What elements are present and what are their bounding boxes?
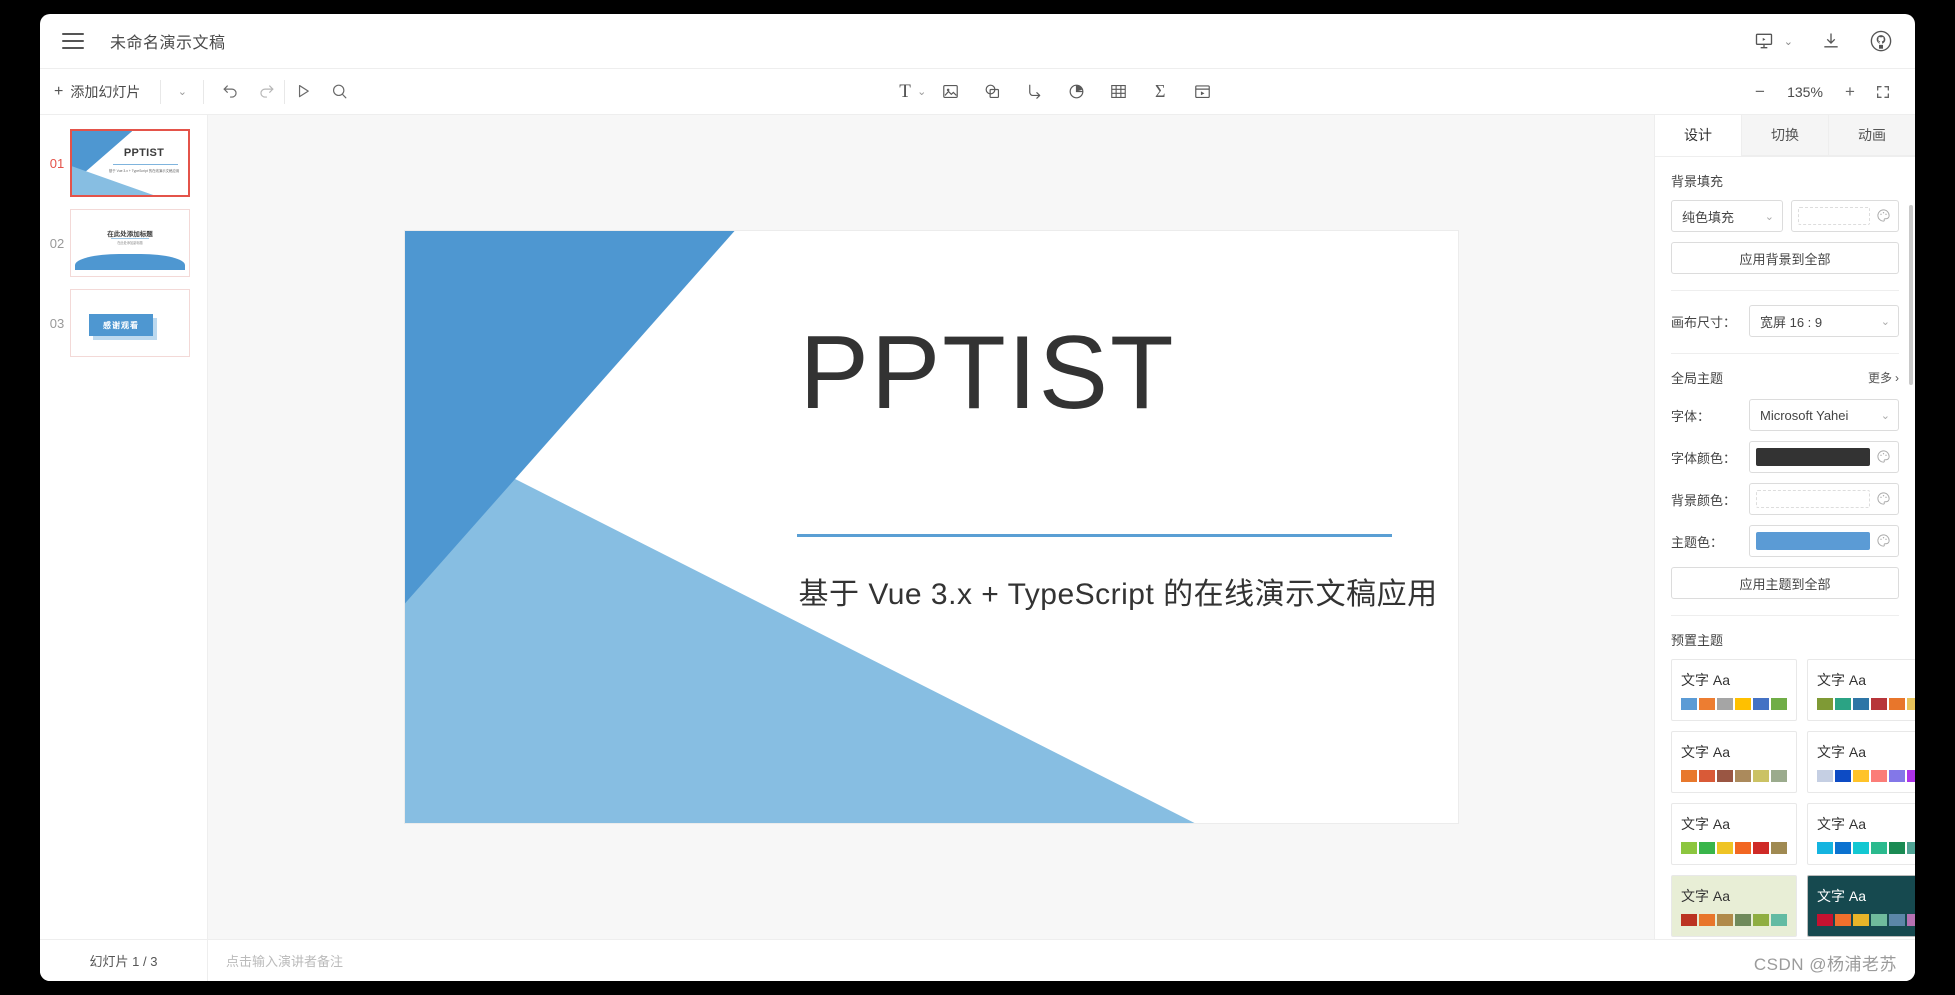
slide-thumbnail-2[interactable]: 02 在此处添加标题 在此处添加副标题 <box>40 203 207 283</box>
present-screen-icon[interactable] <box>1752 29 1776 53</box>
preset-theme-color-swatch-1 <box>1681 698 1697 710</box>
sigma-glyph: Σ <box>1155 81 1165 102</box>
chevron-down-icon: ⌄ <box>1881 409 1890 422</box>
preset-theme-color-row <box>1681 698 1787 710</box>
preset-themes-grid: 文字 Aa文字 Aa文字 Aa文字 Aa文字 Aa文字 Aa文字 Aa文字 Aa… <box>1671 659 1899 939</box>
preset-theme-color-swatch-4 <box>1735 914 1751 926</box>
design-panel-content: 背景填充 纯色填充 ⌄ <box>1655 157 1915 939</box>
plus-icon: + <box>54 83 63 101</box>
preset-theme-color-row <box>1681 914 1787 926</box>
github-icon[interactable] <box>1869 29 1893 53</box>
preset-theme-color-swatch-1 <box>1817 770 1833 782</box>
add-slide-label: 添加幻灯片 <box>70 82 140 102</box>
status-bar: 幻灯片 1 / 3 点击输入演讲者备注 <box>40 939 1915 981</box>
preset-theme-sample-text: 文字 Aa <box>1817 886 1915 906</box>
active-slide[interactable]: PPTIST 基于 Vue 3.x + TypeScript 的在线演示文稿应用 <box>405 231 1458 823</box>
global-theme-more-link[interactable]: 更多 › <box>1868 369 1899 386</box>
insert-line-icon[interactable] <box>1016 75 1052 109</box>
panel-divider-1 <box>1671 290 1899 291</box>
preset-theme-sample-text: 文字 Aa <box>1817 814 1915 834</box>
theme-font-value: Microsoft Yahei <box>1760 408 1848 423</box>
tab-animation[interactable]: 动画 <box>1828 115 1915 156</box>
preset-theme-color-swatch-1 <box>1817 842 1833 854</box>
fit-screen-icon[interactable] <box>1873 82 1893 102</box>
preset-themes-label: 预置主题 <box>1671 630 1899 649</box>
preset-theme-2[interactable]: 文字 Aa <box>1807 659 1915 721</box>
preset-theme-color-swatch-2 <box>1699 842 1715 854</box>
preset-theme-color-row <box>1817 770 1915 782</box>
preset-theme-8[interactable]: 文字 Aa <box>1807 875 1915 937</box>
slide-divider-line[interactable] <box>797 534 1392 537</box>
insert-text-group[interactable]: T ⌄ <box>887 75 926 109</box>
theme-font-row: 字体： Microsoft Yahei ⌄ <box>1671 399 1899 431</box>
theme-font-color-control <box>1749 441 1899 473</box>
title-bar: 未命名演示文稿 ⌄ <box>40 14 1915 69</box>
thumb2-title: 在此处添加标题 <box>71 228 189 238</box>
preset-theme-sample-text: 文字 Aa <box>1681 742 1787 762</box>
slide-thumbnail-panel: 01 PPTIST 基于 Vue 3.x + TypeScript 的在线演示文… <box>40 115 208 939</box>
slide-light-triangle[interactable] <box>405 423 1195 823</box>
preset-theme-color-swatch-3 <box>1853 914 1869 926</box>
preset-theme-color-swatch-6 <box>1907 770 1915 782</box>
chevron-down-icon: ⌄ <box>1881 315 1890 328</box>
insert-tools-group: T ⌄ <box>357 75 1750 109</box>
theme-font-label: 字体： <box>1671 406 1749 425</box>
preset-theme-color-swatch-2 <box>1699 770 1715 782</box>
preset-theme-color-row <box>1681 770 1787 782</box>
play-present-icon[interactable] <box>285 74 321 110</box>
insert-media-icon[interactable] <box>1184 75 1220 109</box>
undo-icon[interactable] <box>212 74 248 110</box>
more-label: 更多 <box>1868 369 1892 386</box>
theme-bg-color-row: 背景颜色： <box>1671 483 1899 515</box>
slide-page-indicator: 幻灯片 1 / 3 <box>40 940 208 982</box>
preset-theme-color-swatch-5 <box>1889 770 1905 782</box>
preset-theme-color-swatch-3 <box>1717 698 1733 710</box>
theme-font-color-swatch <box>1756 448 1870 466</box>
redo-icon[interactable] <box>248 74 284 110</box>
color-palette-icon[interactable] <box>1876 208 1892 224</box>
speaker-notes-input[interactable]: 点击输入演讲者备注 <box>208 951 1915 970</box>
insert-text-caret[interactable]: ⌄ <box>917 85 926 98</box>
preset-theme-color-swatch-6 <box>1907 842 1915 854</box>
preset-theme-color-swatch-3 <box>1853 842 1869 854</box>
apply-background-all-button[interactable]: 应用背景到全部 <box>1671 242 1899 274</box>
slide-subtitle-text[interactable]: 基于 Vue 3.x + TypeScript 的在线演示文稿应用 <box>799 569 1438 613</box>
thumb1-subtitle: 基于 Vue 3.x + TypeScript 的在线演示文稿应用 <box>108 168 180 173</box>
insert-image-icon[interactable] <box>932 75 968 109</box>
preset-theme-color-swatch-5 <box>1753 842 1769 854</box>
preset-theme-color-swatch-4 <box>1871 914 1887 926</box>
preset-theme-color-swatch-3 <box>1717 914 1733 926</box>
preset-theme-color-swatch-2 <box>1699 698 1715 710</box>
present-dropdown-caret[interactable]: ⌄ <box>1784 35 1793 48</box>
slide-thumbnail-list: 01 PPTIST 基于 Vue 3.x + TypeScript 的在线演示文… <box>40 115 207 939</box>
theme-bg-color-picker[interactable] <box>1749 483 1899 515</box>
tab-design[interactable]: 设计 <box>1655 115 1741 156</box>
insert-shape-icon[interactable] <box>974 75 1010 109</box>
thumb2-subtitle: 在此处添加副标题 <box>71 240 189 245</box>
theme-color-label: 主题色： <box>1671 532 1749 551</box>
background-fill-type-value: 纯色填充 <box>1682 207 1734 226</box>
zoom-controls: − 135% + <box>1750 82 1915 102</box>
preset-theme-color-swatch-6 <box>1771 914 1787 926</box>
preset-theme-sample-text: 文字 Aa <box>1681 670 1787 690</box>
main-toolbar: + 添加幻灯片 ⌄ <box>40 69 1915 115</box>
insert-table-icon[interactable] <box>1100 75 1136 109</box>
preset-theme-color-swatch-2 <box>1835 770 1851 782</box>
tab-transition[interactable]: 切换 <box>1741 115 1828 156</box>
preset-theme-color-swatch-2 <box>1835 698 1851 710</box>
slide-thumbnail-3[interactable]: 03 感谢观看 <box>40 283 207 363</box>
preset-theme-color-swatch-6 <box>1771 698 1787 710</box>
preset-theme-color-swatch-5 <box>1753 698 1769 710</box>
preset-theme-color-row <box>1817 698 1915 710</box>
preset-theme-7[interactable]: 文字 Aa <box>1671 875 1797 937</box>
preset-theme-color-swatch-3 <box>1717 842 1733 854</box>
background-section-label: 背景填充 <box>1671 171 1899 190</box>
zoom-in-button[interactable]: + <box>1840 82 1860 102</box>
thumb2-rule <box>111 238 149 239</box>
pptist-app-window: 未命名演示文稿 ⌄ <box>40 14 1915 981</box>
preset-theme-color-swatch-3 <box>1717 770 1733 782</box>
search-replace-icon[interactable] <box>321 74 357 110</box>
slide-number-2: 02 <box>44 236 70 251</box>
right-panel-tabs: 设计 切换 动画 <box>1655 115 1915 157</box>
theme-font-control: Microsoft Yahei ⌄ <box>1749 399 1899 431</box>
preset-theme-color-swatch-1 <box>1681 842 1697 854</box>
right-sidebar: 设计 切换 动画 背景填充 纯色填充 ⌄ <box>1655 115 1915 939</box>
add-slide-dropdown-caret[interactable]: ⌄ <box>161 69 203 115</box>
preset-theme-color-swatch-4 <box>1871 698 1887 710</box>
theme-bg-color-swatch <box>1756 490 1870 508</box>
preset-theme-color-swatch-4 <box>1735 770 1751 782</box>
preset-theme-sample-text: 文字 Aa <box>1817 670 1915 690</box>
zoom-level-value: 135% <box>1783 84 1827 100</box>
theme-color-swatch <box>1756 532 1870 550</box>
chevron-right-icon: › <box>1895 371 1899 385</box>
slide-title-text[interactable]: PPTIST <box>800 313 1176 434</box>
theme-color-row: 主题色： <box>1671 525 1899 557</box>
theme-bg-color-label: 背景颜色： <box>1671 490 1749 509</box>
download-icon[interactable] <box>1819 29 1843 53</box>
apply-theme-all-button[interactable]: 应用主题到全部 <box>1671 567 1899 599</box>
preset-theme-color-swatch-2 <box>1835 842 1851 854</box>
preset-theme-5[interactable]: 文字 Aa <box>1671 803 1797 865</box>
theme-color-control <box>1749 525 1899 557</box>
canvas-size-select[interactable]: 宽屏 16 : 9 ⌄ <box>1749 305 1899 337</box>
document-title[interactable]: 未命名演示文稿 <box>110 29 226 53</box>
color-palette-icon[interactable] <box>1876 491 1892 507</box>
insert-formula-icon[interactable]: Σ <box>1142 75 1178 109</box>
preset-theme-color-row <box>1817 842 1915 854</box>
canvas-size-row: 画布尺寸： 宽屏 16 : 9 ⌄ <box>1671 305 1899 337</box>
preset-theme-sample-text: 文字 Aa <box>1817 742 1915 762</box>
panel-divider-3 <box>1671 615 1899 616</box>
title-bar-actions: ⌄ <box>1752 29 1893 53</box>
preset-theme-color-swatch-4 <box>1735 842 1751 854</box>
preset-theme-color-swatch-2 <box>1699 914 1715 926</box>
preset-theme-color-swatch-6 <box>1907 698 1915 710</box>
canvas-size-control: 宽屏 16 : 9 ⌄ <box>1749 305 1899 337</box>
color-palette-icon[interactable] <box>1876 533 1892 549</box>
slide-preview-3[interactable]: 感谢观看 <box>70 289 190 357</box>
preset-theme-sample-text: 文字 Aa <box>1681 814 1787 834</box>
preset-theme-color-swatch-4 <box>1871 842 1887 854</box>
preset-theme-color-swatch-5 <box>1889 698 1905 710</box>
background-fill-row: 纯色填充 ⌄ <box>1671 200 1899 232</box>
theme-color-picker[interactable] <box>1749 525 1899 557</box>
preset-theme-sample-text: 文字 Aa <box>1681 886 1787 906</box>
slide-preview-1[interactable]: PPTIST 基于 Vue 3.x + TypeScript 的在线演示文稿应用 <box>70 129 190 197</box>
preset-theme-color-swatch-6 <box>1907 914 1915 926</box>
preset-theme-color-swatch-1 <box>1817 698 1833 710</box>
preset-theme-color-swatch-5 <box>1889 842 1905 854</box>
preset-theme-color-swatch-6 <box>1771 842 1787 854</box>
chevron-down-icon: ⌄ <box>1765 210 1774 223</box>
theme-font-color-label: 字体颜色： <box>1671 448 1749 467</box>
slide-thumbnail-1[interactable]: 01 PPTIST 基于 Vue 3.x + TypeScript 的在线演示文… <box>40 123 207 203</box>
preset-theme-color-swatch-5 <box>1889 914 1905 926</box>
slide-canvas-area[interactable]: PPTIST 基于 Vue 3.x + TypeScript 的在线演示文稿应用 <box>208 115 1655 939</box>
preset-theme-color-row <box>1681 842 1787 854</box>
preset-theme-3[interactable]: 文字 Aa <box>1671 731 1797 793</box>
background-color-swatch <box>1798 207 1870 225</box>
hamburger-icon[interactable] <box>62 33 84 49</box>
preset-theme-color-swatch-6 <box>1771 770 1787 782</box>
thumb1-rule <box>113 164 178 165</box>
insert-chart-icon[interactable] <box>1058 75 1094 109</box>
preset-theme-color-swatch-1 <box>1817 914 1833 926</box>
preset-theme-color-swatch-1 <box>1681 770 1697 782</box>
preset-theme-color-swatch-3 <box>1853 698 1869 710</box>
slide-preview-2[interactable]: 在此处添加标题 在此处添加副标题 <box>70 209 190 277</box>
slide-number-1: 01 <box>44 156 70 171</box>
canvas-size-label: 画布尺寸： <box>1671 312 1749 331</box>
global-theme-header: 全局主题 更多 › <box>1671 368 1899 387</box>
preset-theme-color-swatch-5 <box>1753 770 1769 782</box>
preset-theme-1[interactable]: 文字 Aa <box>1671 659 1797 721</box>
preset-theme-color-swatch-5 <box>1753 914 1769 926</box>
preset-theme-color-swatch-4 <box>1871 770 1887 782</box>
toolbar-left-group: + 添加幻灯片 ⌄ <box>40 69 357 115</box>
preset-theme-color-swatch-3 <box>1853 770 1869 782</box>
zoom-out-button[interactable]: − <box>1750 82 1770 102</box>
theme-bg-color-control <box>1749 483 1899 515</box>
global-theme-label: 全局主题 <box>1671 368 1723 387</box>
background-fill-type-select[interactable]: 纯色填充 ⌄ <box>1671 200 1783 232</box>
add-slide-button[interactable]: + 添加幻灯片 <box>40 69 160 115</box>
preset-theme-color-swatch-4 <box>1735 698 1751 710</box>
editor-body: 01 PPTIST 基于 Vue 3.x + TypeScript 的在线演示文… <box>40 115 1915 939</box>
preset-theme-color-row <box>1817 914 1915 926</box>
preset-theme-color-swatch-1 <box>1681 914 1697 926</box>
color-palette-icon[interactable] <box>1876 449 1892 465</box>
preset-theme-4[interactable]: 文字 Aa <box>1807 731 1915 793</box>
preset-theme-color-swatch-2 <box>1835 914 1851 926</box>
thumb2-wave-shape <box>75 254 185 270</box>
slide-number-3: 03 <box>44 316 70 331</box>
theme-font-color-row: 字体颜色： <box>1671 441 1899 473</box>
history-group <box>204 74 357 110</box>
background-color-picker[interactable] <box>1791 200 1899 232</box>
preset-theme-6[interactable]: 文字 Aa <box>1807 803 1915 865</box>
thumb3-button-label: 感谢观看 <box>89 314 153 336</box>
canvas-size-value: 宽屏 16 : 9 <box>1760 312 1822 331</box>
theme-font-select[interactable]: Microsoft Yahei ⌄ <box>1749 399 1899 431</box>
theme-font-color-picker[interactable] <box>1749 441 1899 473</box>
thumb1-title: PPTIST <box>108 147 180 159</box>
panel-scrollbar[interactable] <box>1909 205 1913 385</box>
panel-divider-2 <box>1671 353 1899 354</box>
text-t-glyph: T <box>899 81 911 103</box>
